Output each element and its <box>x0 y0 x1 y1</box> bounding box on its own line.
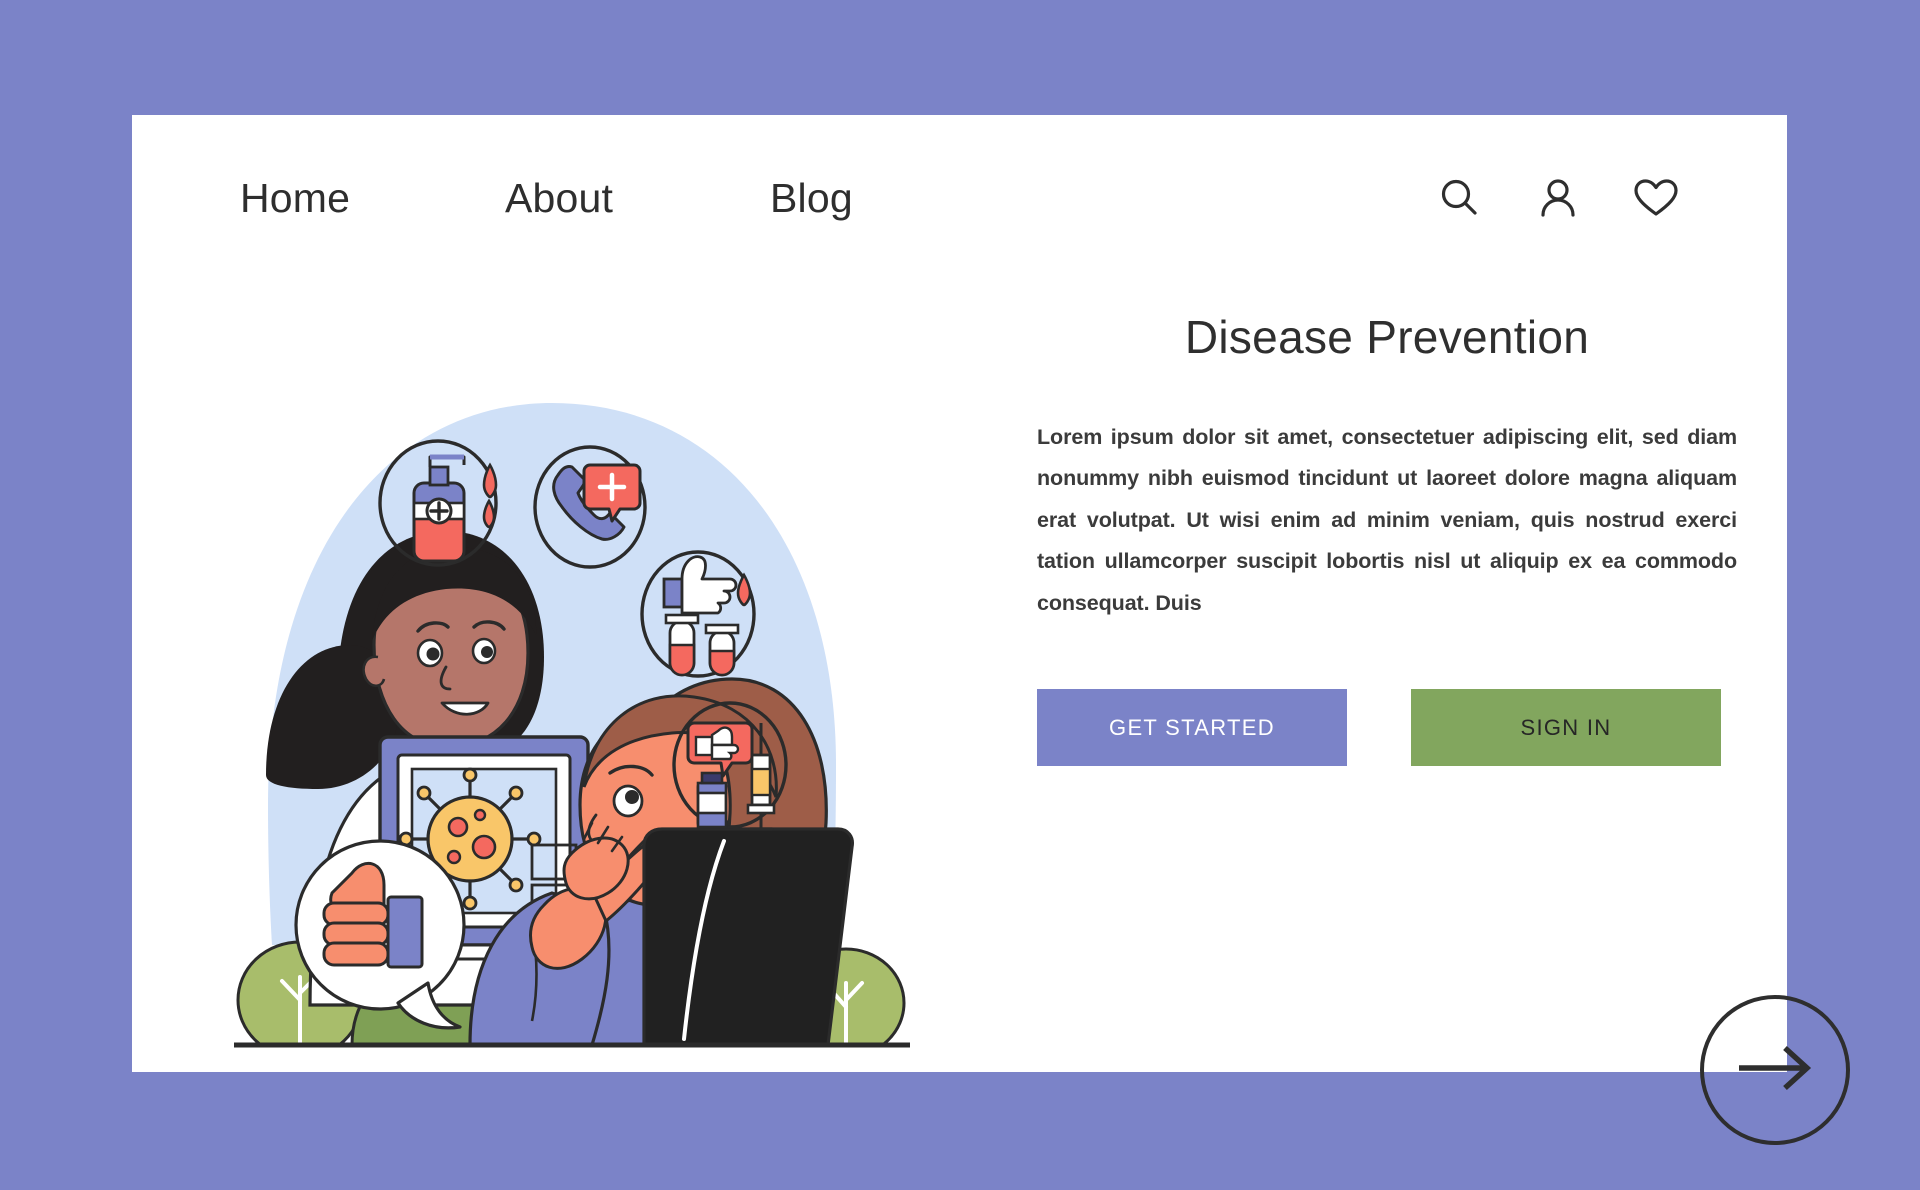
next-slide-button[interactable] <box>1700 995 1850 1145</box>
hero-card: Home About Blog <box>132 115 1787 1072</box>
sign-in-button[interactable]: SIGN IN <box>1411 689 1721 766</box>
top-navigation: Home About Blog <box>132 115 1787 275</box>
hero-content: Disease Prevention Lorem ipsum dolor sit… <box>1037 310 1737 624</box>
heart-icon[interactable] <box>1633 175 1679 221</box>
nav-links: Home About Blog <box>240 175 970 222</box>
nav-link-blog[interactable]: Blog <box>770 175 970 222</box>
hero-illustration <box>232 345 912 1055</box>
search-icon[interactable] <box>1437 175 1483 221</box>
nav-icons <box>1437 175 1679 221</box>
arrow-right-icon <box>1731 1042 1819 1099</box>
page-root: Home About Blog <box>0 0 1920 1190</box>
user-icon[interactable] <box>1535 175 1581 221</box>
page-title: Disease Prevention <box>1037 310 1737 364</box>
get-started-button[interactable]: GET STARTED <box>1037 689 1347 766</box>
chair-back <box>644 829 852 1045</box>
hero-paragraph: Lorem ipsum dolor sit amet, consectetuer… <box>1037 417 1737 624</box>
nav-link-about[interactable]: About <box>505 175 770 222</box>
cta-button-row: GET STARTED SIGN IN <box>1037 689 1721 766</box>
nav-link-home[interactable]: Home <box>240 175 505 222</box>
